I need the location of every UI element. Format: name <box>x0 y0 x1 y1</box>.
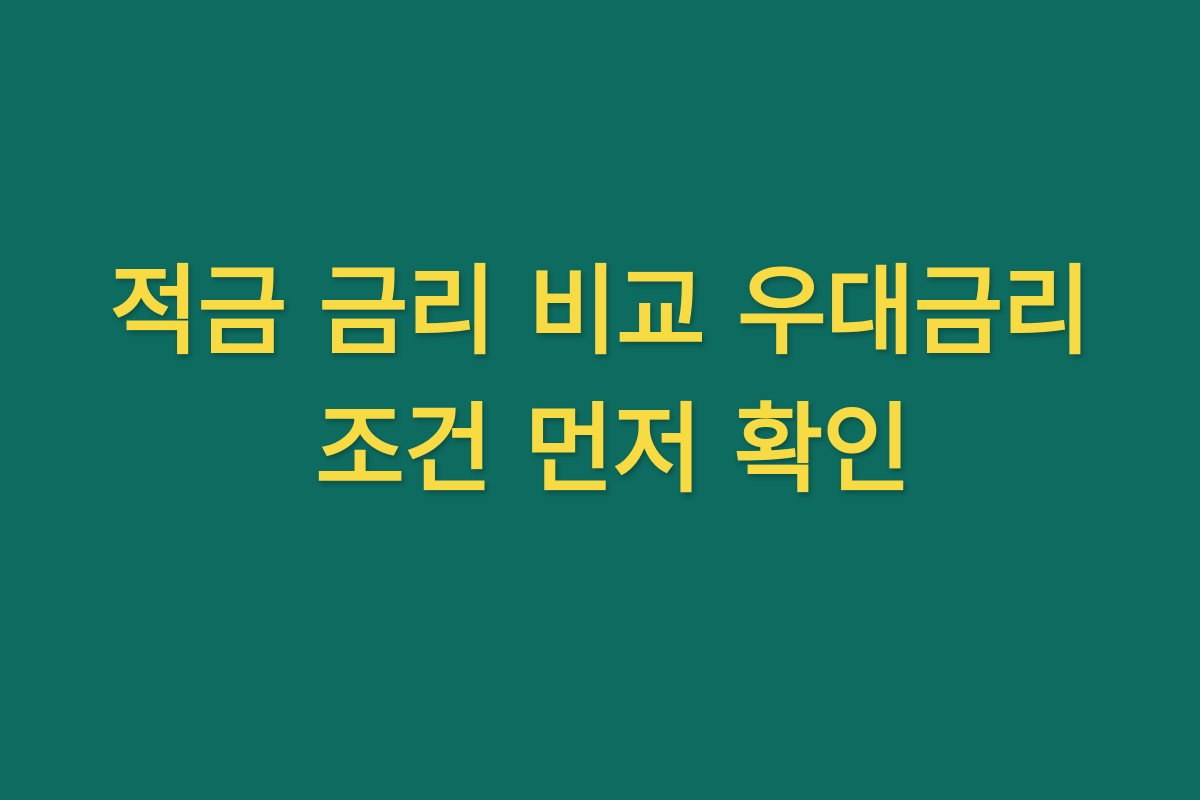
headline-line-2: 조건 먼저 확인 <box>50 381 1150 519</box>
page-title: 적금 금리 비교 우대금리 조건 먼저 확인 <box>50 243 1150 519</box>
thumbnail-banner: 적금 금리 비교 우대금리 조건 먼저 확인 <box>0 0 1200 800</box>
headline-line-1: 적금 금리 비교 우대금리 <box>50 243 1150 381</box>
